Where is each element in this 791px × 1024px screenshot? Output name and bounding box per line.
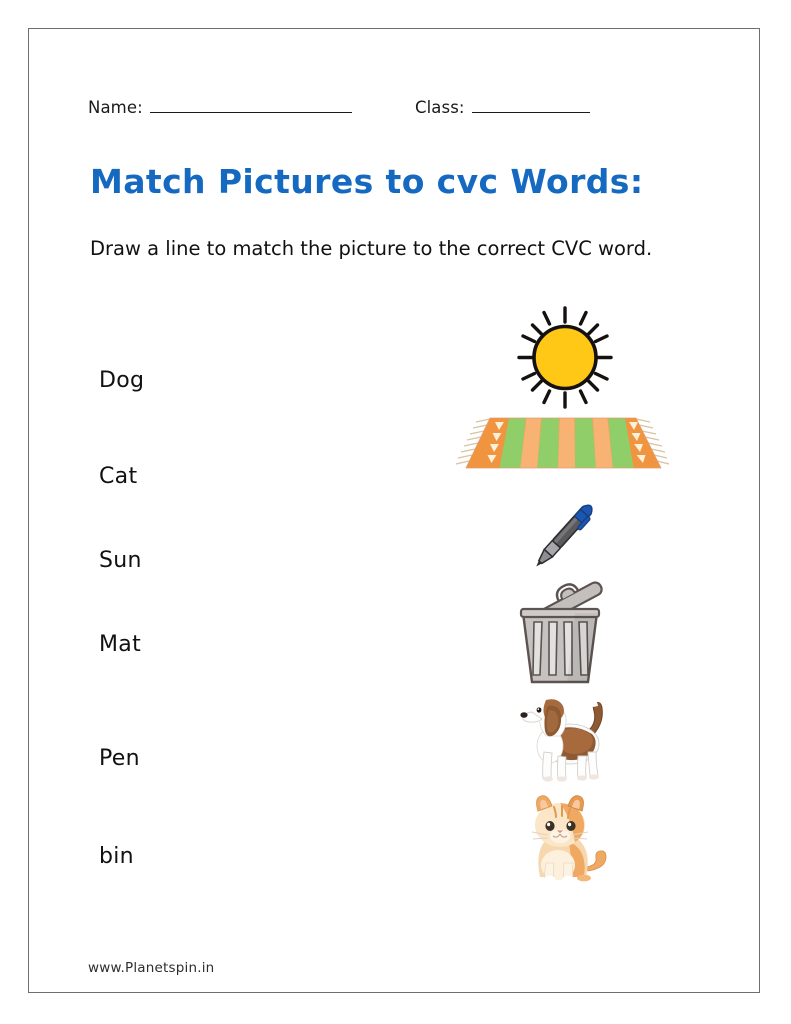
- pen-picture[interactable]: [514, 485, 614, 585]
- instructions-text: Draw a line to match the picture to the …: [90, 232, 670, 265]
- cat-picture[interactable]: [510, 793, 620, 893]
- word-item-cat[interactable]: Cat: [99, 464, 137, 489]
- name-label: Name:: [88, 98, 143, 117]
- bin-picture[interactable]: [505, 578, 615, 688]
- student-info-row: Name: Class:: [88, 98, 688, 124]
- word-item-pen[interactable]: Pen: [99, 746, 140, 771]
- mat-picture[interactable]: [454, 408, 669, 480]
- dog-icon: [508, 690, 623, 790]
- dog-picture[interactable]: [508, 690, 623, 790]
- name-field[interactable]: Name:: [88, 98, 352, 117]
- picture-list: [440, 290, 690, 910]
- word-item-dog[interactable]: Dog: [99, 368, 144, 393]
- footer-url: www.Planetspin.in: [88, 960, 214, 976]
- word-item-mat[interactable]: Mat: [99, 632, 141, 657]
- class-label: Class:: [415, 98, 465, 117]
- cat-icon: [510, 793, 620, 893]
- worksheet-page: Name: Class: Match Pictures to cvc Words…: [0, 0, 791, 1024]
- word-item-sun[interactable]: Sun: [99, 548, 142, 573]
- word-item-bin[interactable]: bin: [99, 844, 134, 869]
- rug-icon: [454, 408, 669, 480]
- sun-icon: [500, 300, 630, 415]
- page-title: Match Pictures to cvc Words:: [90, 162, 643, 201]
- name-write-line[interactable]: [150, 100, 352, 113]
- cvc-word-list: DogCatSunMatPenbin: [99, 300, 299, 900]
- pen-icon: [514, 485, 614, 585]
- class-field[interactable]: Class:: [415, 98, 590, 117]
- sun-picture[interactable]: [500, 300, 630, 415]
- class-write-line[interactable]: [472, 100, 590, 113]
- trash-bin-icon: [505, 578, 615, 688]
